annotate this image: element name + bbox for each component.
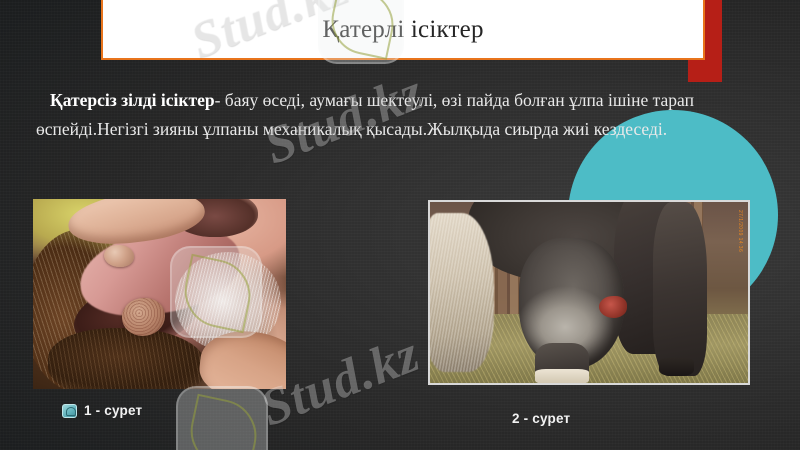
caption-right-label: 2 - сурет (512, 411, 570, 426)
caption-right: 2 - сурет (512, 411, 570, 426)
horse-hoof (659, 358, 694, 376)
picture-icon (62, 404, 77, 418)
dog-tumour-large (122, 298, 165, 336)
body-lead-term: Қатерсіз зілді ісіктер (36, 90, 215, 110)
caption-left-label: 1 - сурет (84, 403, 142, 418)
body-paragraph: Қатерсіз зілді ісіктер- баяу өседі, аума… (36, 86, 766, 144)
horse-white-pastern (535, 369, 589, 385)
horse-tumour-lesion (599, 296, 628, 318)
dog-tumour-small (104, 245, 134, 268)
slide-canvas: Қатерлі ісіктер Қатерсіз зілді ісіктер- … (0, 0, 800, 450)
title-box: Қатерлі ісіктер (101, 0, 705, 60)
page-title: Қатерлі ісіктер (322, 11, 483, 42)
photo-left-dog-oral-tumour (33, 199, 286, 389)
photo-right-horse-tumour: 27/1/2009 14:36 (428, 200, 750, 385)
watermark-leaf-icon-3 (176, 386, 268, 450)
horse-rear-leg-2 (653, 202, 707, 376)
caption-left: 1 - сурет (62, 403, 142, 418)
photo-date-stamp: 27/1/2009 14:36 (737, 210, 743, 252)
horse-tail (428, 213, 494, 372)
